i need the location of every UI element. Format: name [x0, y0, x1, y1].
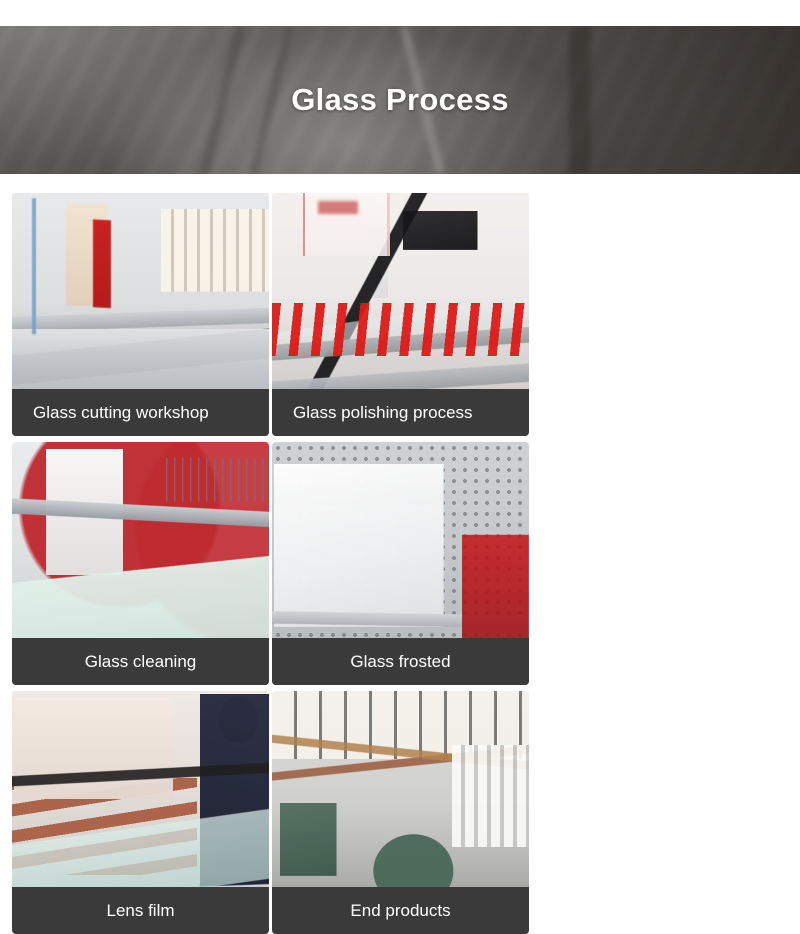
card-caption-glass-polishing-process: Glass polishing process — [272, 389, 529, 436]
card-caption-glass-cleaning: Glass cleaning — [12, 638, 269, 685]
process-card-glass-polishing-process[interactable]: Glass polishing process — [272, 193, 529, 436]
card-caption-lens-film: Lens film — [12, 887, 269, 934]
process-card-end-products[interactable]: End products — [272, 691, 529, 934]
process-card-glass-frosted[interactable]: Glass frosted — [272, 442, 529, 685]
process-gallery-grid: Glass cutting workshop Glass polishing p… — [12, 193, 788, 934]
process-card-glass-cutting-workshop[interactable]: Glass cutting workshop — [12, 193, 269, 436]
page-banner: Glass Process — [0, 26, 800, 174]
glass-process-page: Glass Process Glass cutting workshop Gla… — [0, 0, 800, 741]
process-card-lens-film[interactable]: Lens film — [12, 691, 269, 934]
process-card-glass-cleaning[interactable]: Glass cleaning — [12, 442, 269, 685]
card-caption-glass-frosted: Glass frosted — [272, 638, 529, 685]
wall-sign-decor — [303, 193, 390, 256]
card-caption-end-products: End products — [272, 887, 529, 934]
card-caption-glass-cutting-workshop: Glass cutting workshop — [12, 389, 269, 436]
page-title: Glass Process — [0, 26, 800, 174]
